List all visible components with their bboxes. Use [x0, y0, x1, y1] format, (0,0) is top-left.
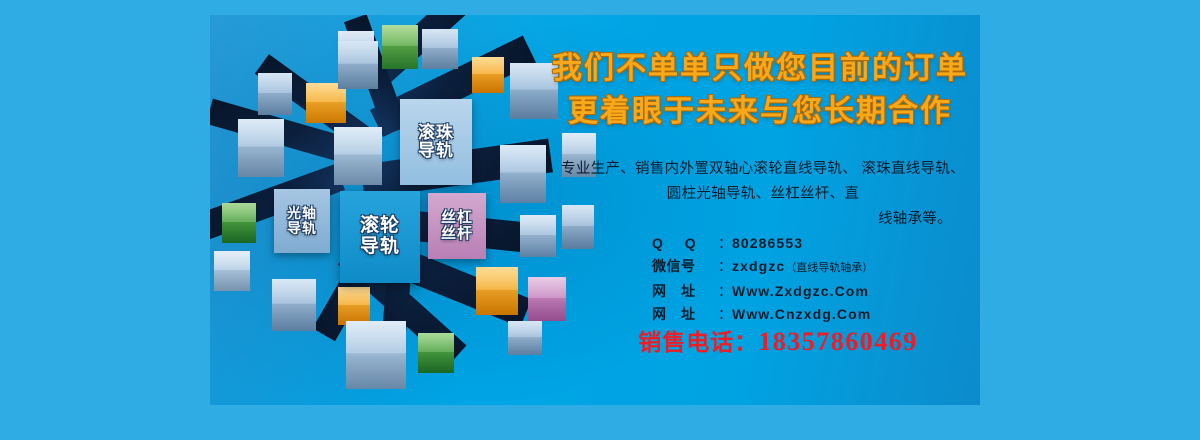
cube-glass [346, 321, 406, 389]
contact-colon: ： [718, 233, 732, 254]
contact-row-website-1: 网 址 ： Www.Zxdgzc.Com [652, 281, 980, 302]
headline-line-1: 我们不单单只做您目前的订单 [540, 48, 980, 91]
headline-line-2: 更着眼于未来与您长期合作 [540, 91, 980, 134]
contact-block: Q Q ： 80286553 微信号 ： zxdgzc （直线导轨轴承） 网 址… [652, 233, 980, 327]
cube-green-top [382, 25, 418, 69]
label-cube-line2: 导轨 [287, 221, 317, 236]
promo-banner: 滚珠 导轨 光轴 导轨 滚轮 导轨 丝杠 丝杆 [0, 0, 1200, 440]
content-column: 我们不单单只做您目前的订单 更着眼于未来与您长期合作 专业生产、销售内外置双轴心… [540, 15, 980, 405]
contact-row-wechat: 微信号 ： zxdgzc （直线导轨轴承） [652, 256, 980, 279]
label-cube-line2: 丝杆 [441, 226, 473, 242]
label-cube-gunlun-daogui: 滚轮 导轨 [340, 191, 420, 283]
cube-orange-topleft [306, 83, 346, 123]
label-cube-line1: 光轴 [287, 206, 317, 221]
label-cube-line2: 导轨 [418, 142, 454, 160]
contact-label: 微信号 [652, 256, 718, 277]
cube-glass [258, 73, 292, 115]
cube-orange-bottom [338, 287, 370, 325]
label-cube-gunzhu-daogui: 滚珠 导轨 [400, 99, 472, 185]
cube-blue-topright [422, 29, 458, 69]
cube-glass [422, 29, 458, 69]
contact-note-wechat: （直线导轨轴承） [785, 258, 873, 279]
cube-blue-left-4 [272, 279, 316, 331]
contact-row-qq: Q Q ： 80286553 [652, 233, 980, 254]
cube-blue-center-b [338, 41, 378, 89]
contact-value-website-2[interactable]: Www.Cnzxdg.Com [732, 304, 871, 325]
contact-colon: ： [718, 304, 732, 325]
contact-colon: ： [718, 281, 732, 302]
banner-panel: 滚珠 导轨 光轴 导轨 滚轮 导轨 丝杠 丝杆 [210, 15, 980, 405]
cube-blue-bottom-2 [508, 321, 542, 355]
headline-block: 我们不单单只做您目前的订单 更着眼于未来与您长期合作 [540, 48, 980, 133]
description-line-1: 专业生产、销售内外置双轴心滚轮直线导轨、 [561, 161, 857, 177]
sales-phone-block: 销售电话： 18357860469 [568, 323, 980, 357]
label-cube-guangzhou-daogui: 光轴 导轨 [274, 189, 330, 253]
cube-glass [382, 25, 418, 69]
cube-orange-topright [472, 57, 504, 93]
cube-orange-bottomright [476, 267, 518, 315]
description-line-3: 线轴承等。 [558, 207, 968, 232]
label-cube-line2: 导轨 [360, 237, 400, 258]
cube-glass [472, 57, 504, 93]
contact-value-qq: 80286553 [732, 233, 803, 254]
label-cube-line1: 滚珠 [418, 124, 454, 142]
cube-glass [306, 83, 346, 123]
cube-glass [418, 333, 454, 373]
contact-label: 网 址 [652, 281, 718, 302]
label-cube-line1: 丝杠 [441, 210, 473, 226]
cube-blue-bottom [346, 321, 406, 389]
cube-glass [338, 287, 370, 325]
contact-value-wechat: zxdgzc [732, 256, 785, 277]
cube-blue-left-3 [214, 251, 250, 291]
cube-green-bottom [418, 333, 454, 373]
cube-glass [338, 41, 378, 89]
cube-blue-left-2 [258, 73, 292, 115]
cube-blue-left [238, 119, 284, 177]
cube-glass [222, 203, 256, 243]
contact-label: 网 址 [652, 304, 718, 325]
cube-glass [334, 127, 382, 185]
cube-glass [238, 119, 284, 177]
cube-blue-center-a [334, 127, 382, 185]
contact-value-website-1[interactable]: Www.Zxdgzc.Com [732, 281, 869, 302]
cube-glass [476, 267, 518, 315]
cube-glass [272, 279, 316, 331]
label-cube-sigang-sigan: 丝杠 丝杆 [428, 193, 486, 259]
contact-colon: ： [718, 256, 732, 277]
contact-row-website-2: 网 址 ： Www.Cnzxdg.Com [652, 304, 980, 325]
label-cube-line1: 滚轮 [360, 216, 400, 237]
description-text: 专业生产、销售内外置双轴心滚轮直线导轨、 滚珠直线导轨、圆柱光轴导轨、丝杠丝杆、… [558, 157, 968, 232]
contact-label: Q Q [652, 233, 718, 254]
cube-glass [508, 321, 542, 355]
sales-phone-number: 18357860469 [758, 327, 918, 357]
cube-glass [214, 251, 250, 291]
sales-phone-label: 销售电话： [638, 323, 758, 357]
cube-green-left [222, 203, 256, 243]
